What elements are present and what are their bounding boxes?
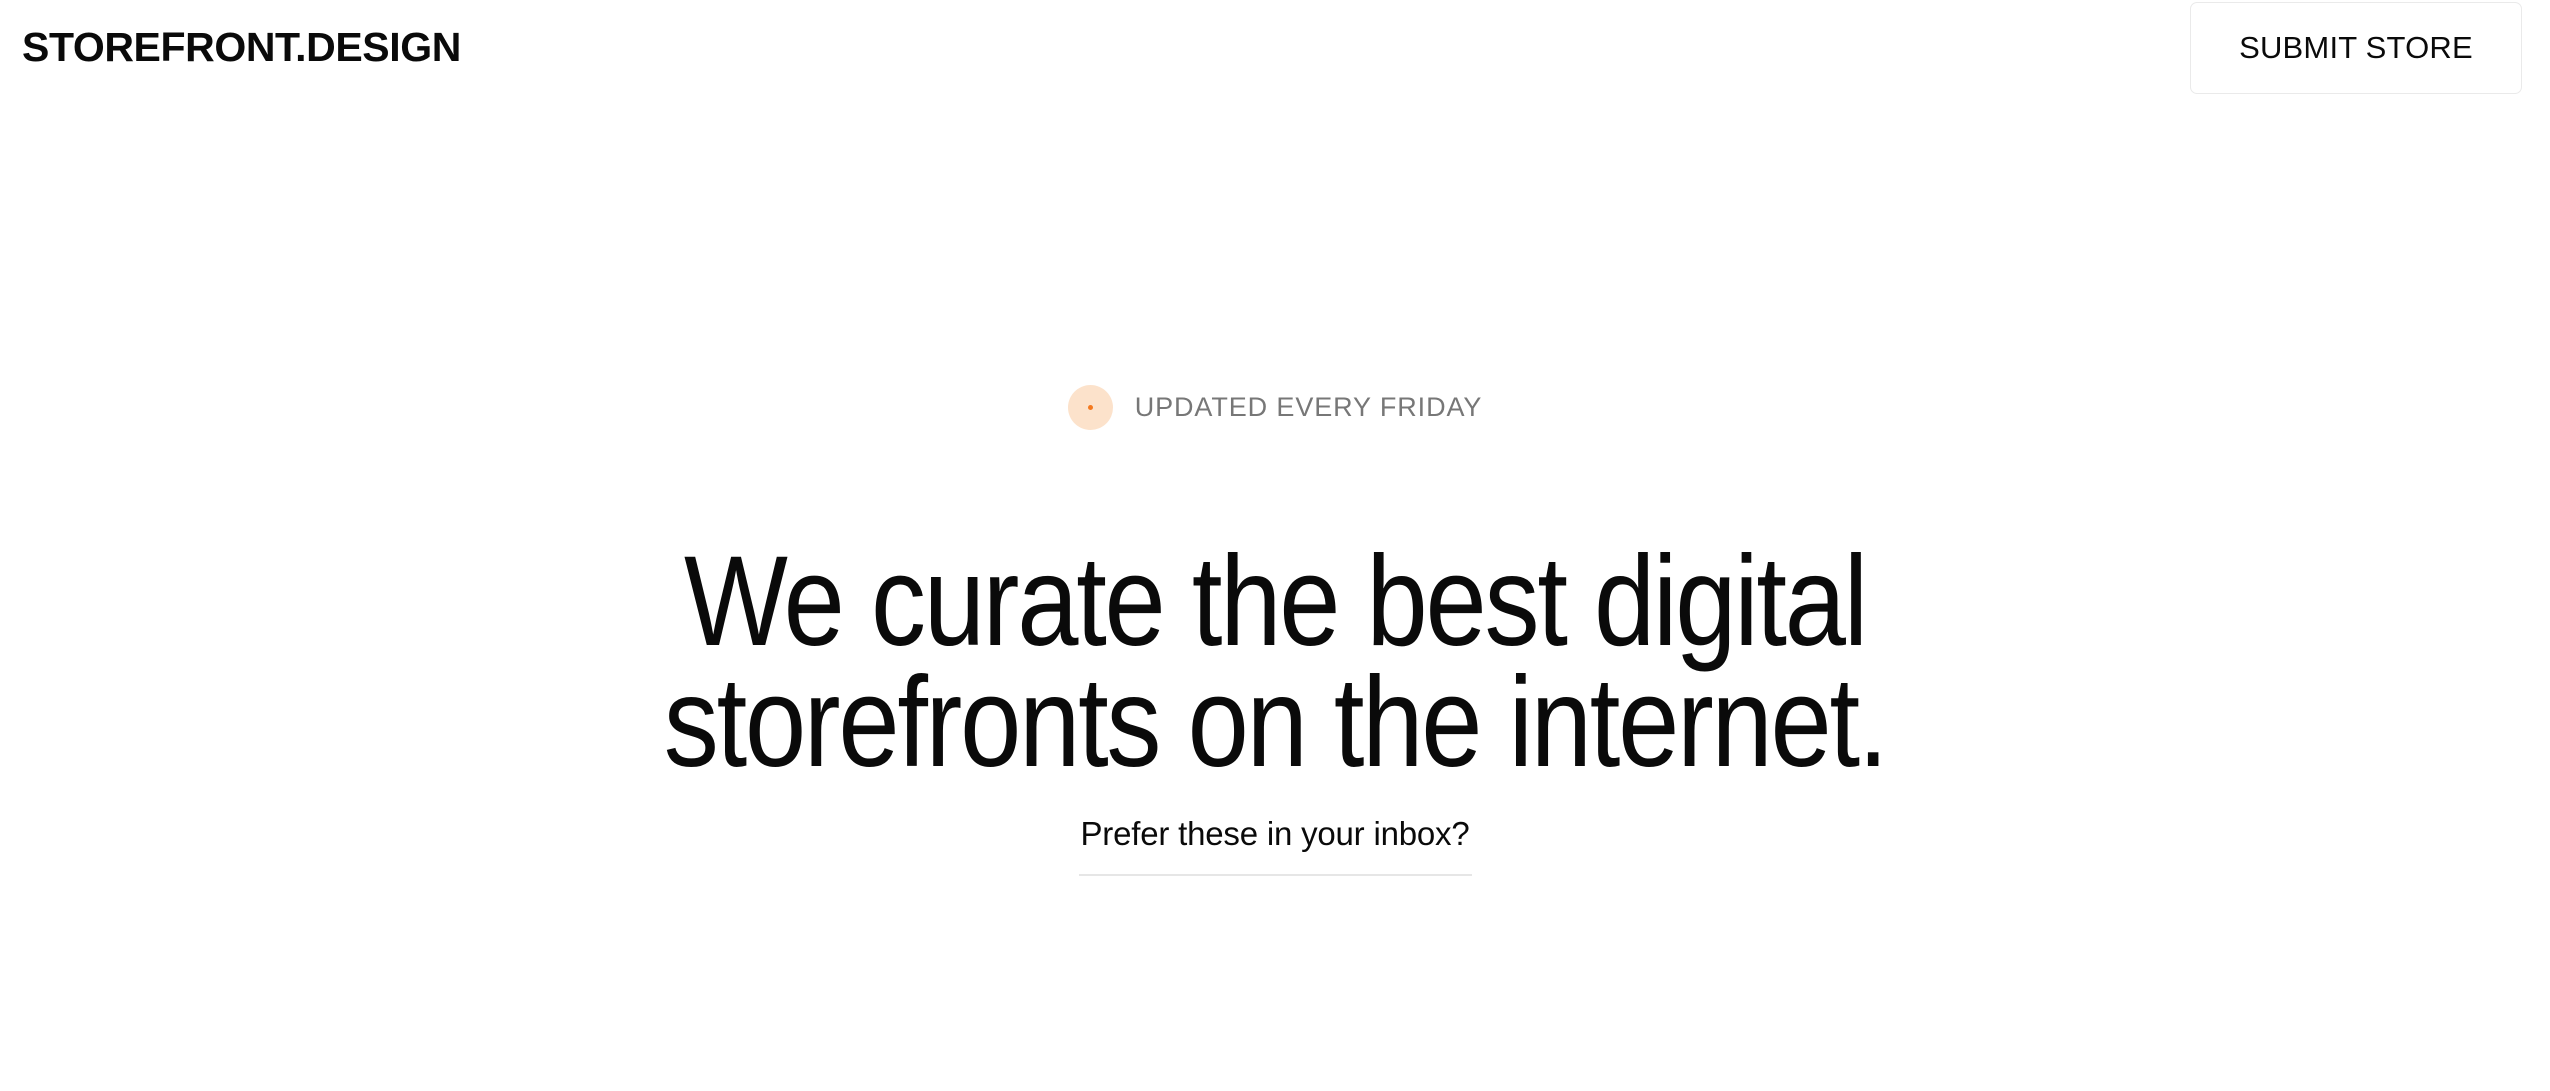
hero-headline: We curate the best digital storefronts o… (179, 541, 2372, 784)
page-root: STOREFRONT.DESIGN FILTER [00] SUBMIT STO… (0, 0, 2550, 1091)
hero-headline-line-1: We curate the best digital (179, 541, 2372, 663)
hero-eyebrow: UPDATED EVERY FRIDAY (0, 385, 2550, 430)
status-dot-icon (1068, 385, 1113, 430)
newsletter-link[interactable]: Prefer these in your inbox? (1079, 810, 1472, 876)
hero-headline-line-2: storefronts on the internet. (179, 662, 2372, 784)
newsletter-link-wrap: Prefer these in your inbox? (0, 810, 2550, 876)
hero-section: UPDATED EVERY FRIDAY We curate the best … (0, 0, 2550, 1091)
hero-eyebrow-text: UPDATED EVERY FRIDAY (1135, 394, 1483, 421)
